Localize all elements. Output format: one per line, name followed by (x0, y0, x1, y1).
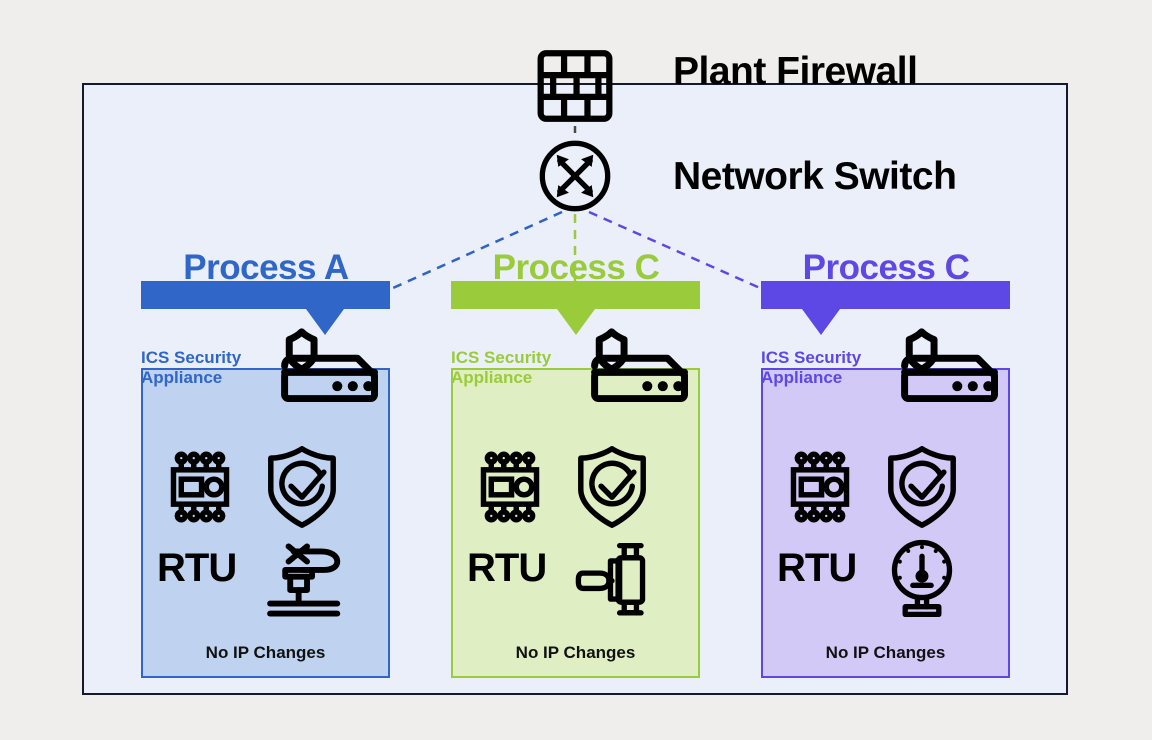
process-a-footer: No IP Changes (141, 643, 390, 663)
pressure-gauge-icon (879, 538, 965, 622)
process-a-title: Process A (116, 248, 416, 288)
process-column-c: Process C ICS Security Appliance (736, 248, 1036, 678)
plant-firewall-label: Plant Firewall (673, 50, 917, 94)
process-c-rtu-label: RTU (777, 546, 867, 602)
rtu-chip-icon (781, 448, 859, 526)
process-b-title: Process C (426, 248, 726, 288)
diagram-canvas: Plant Firewall Network Switch Process A … (0, 0, 1152, 740)
rtu-chip-icon (471, 448, 549, 526)
security-appliance-icon (576, 326, 700, 406)
network-switch-icon (537, 138, 613, 214)
shield-check-icon (573, 444, 651, 530)
shield-check-icon (263, 444, 341, 530)
process-a-rtu-label: RTU (157, 546, 247, 602)
process-column-a: Process A ICS Security Appliance (116, 248, 416, 678)
process-column-b: Process C ICS Security Appliance (426, 248, 726, 678)
process-a-icon-grid: RTU (141, 448, 390, 628)
process-c-title: Process C (736, 248, 1036, 288)
process-c-banner-arrow (802, 309, 840, 335)
process-b-rtu-label: RTU (467, 546, 557, 602)
valve-faucet-icon (259, 538, 345, 622)
security-appliance-icon (886, 326, 1010, 406)
security-appliance-icon (266, 326, 390, 406)
process-c-icon-grid: RTU (761, 448, 1010, 628)
flow-meter-valve-icon (569, 538, 655, 622)
process-b-footer: No IP Changes (451, 643, 700, 663)
process-c-footer: No IP Changes (761, 643, 1010, 663)
network-switch-label: Network Switch (673, 155, 956, 199)
process-b-icon-grid: RTU (451, 448, 700, 628)
firewall-brick-icon (536, 47, 614, 125)
rtu-chip-icon (161, 448, 239, 526)
shield-check-icon (883, 444, 961, 530)
